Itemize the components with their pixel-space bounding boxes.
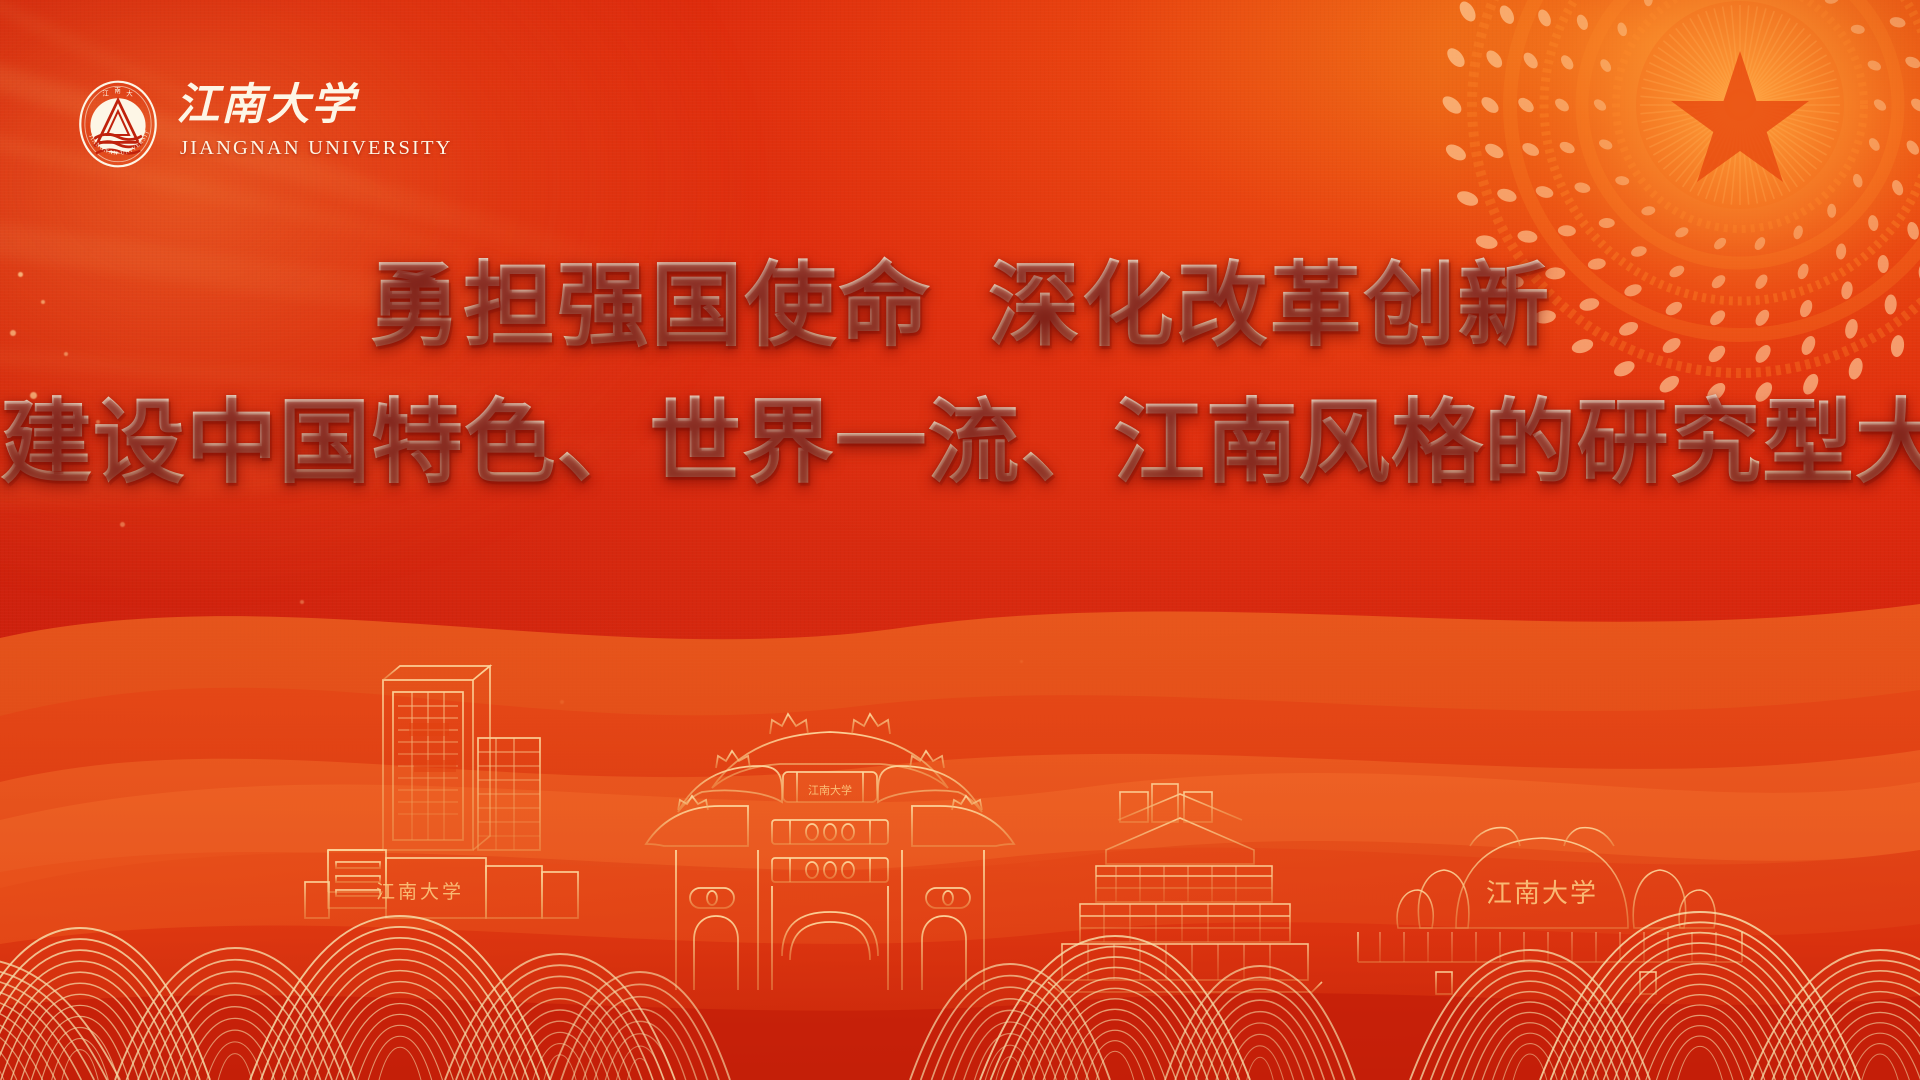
headline-block: 勇担强国使命深化改革创新 建设中国特色、世界一流、江南风格的研究型大学 xyxy=(0,252,1920,497)
university-emblem-icon: 江南大 JIANGNAN UNIVERSITY xyxy=(72,78,164,170)
svg-text:江: 江 xyxy=(102,89,109,97)
headline-line-1-part-2: 深化改革创新 xyxy=(988,255,1551,357)
headline-line-1-part-1: 勇担强国使命 xyxy=(369,255,932,357)
svg-text:南: 南 xyxy=(114,86,121,95)
landscape-hills xyxy=(0,520,1920,1080)
svg-text:大: 大 xyxy=(126,88,133,97)
logo-name-cn: 江南大学 xyxy=(176,81,360,129)
headline-line-2: 建设中国特色、世界一流、江南风格的研究型大学 xyxy=(0,389,1920,498)
poster-canvas: 江南大学 江南大学 xyxy=(0,0,1920,1080)
logo-name-en: JIANGNAN UNIVERSITY xyxy=(180,137,453,160)
headline-line-1: 勇担强国使命深化改革创新 xyxy=(0,252,1920,361)
university-name-cn-calligraphy: 江南大学 xyxy=(176,78,384,134)
university-logo[interactable]: 江南大 JIANGNAN UNIVERSITY 江南大学 JIANGNAN UN… xyxy=(72,78,453,170)
